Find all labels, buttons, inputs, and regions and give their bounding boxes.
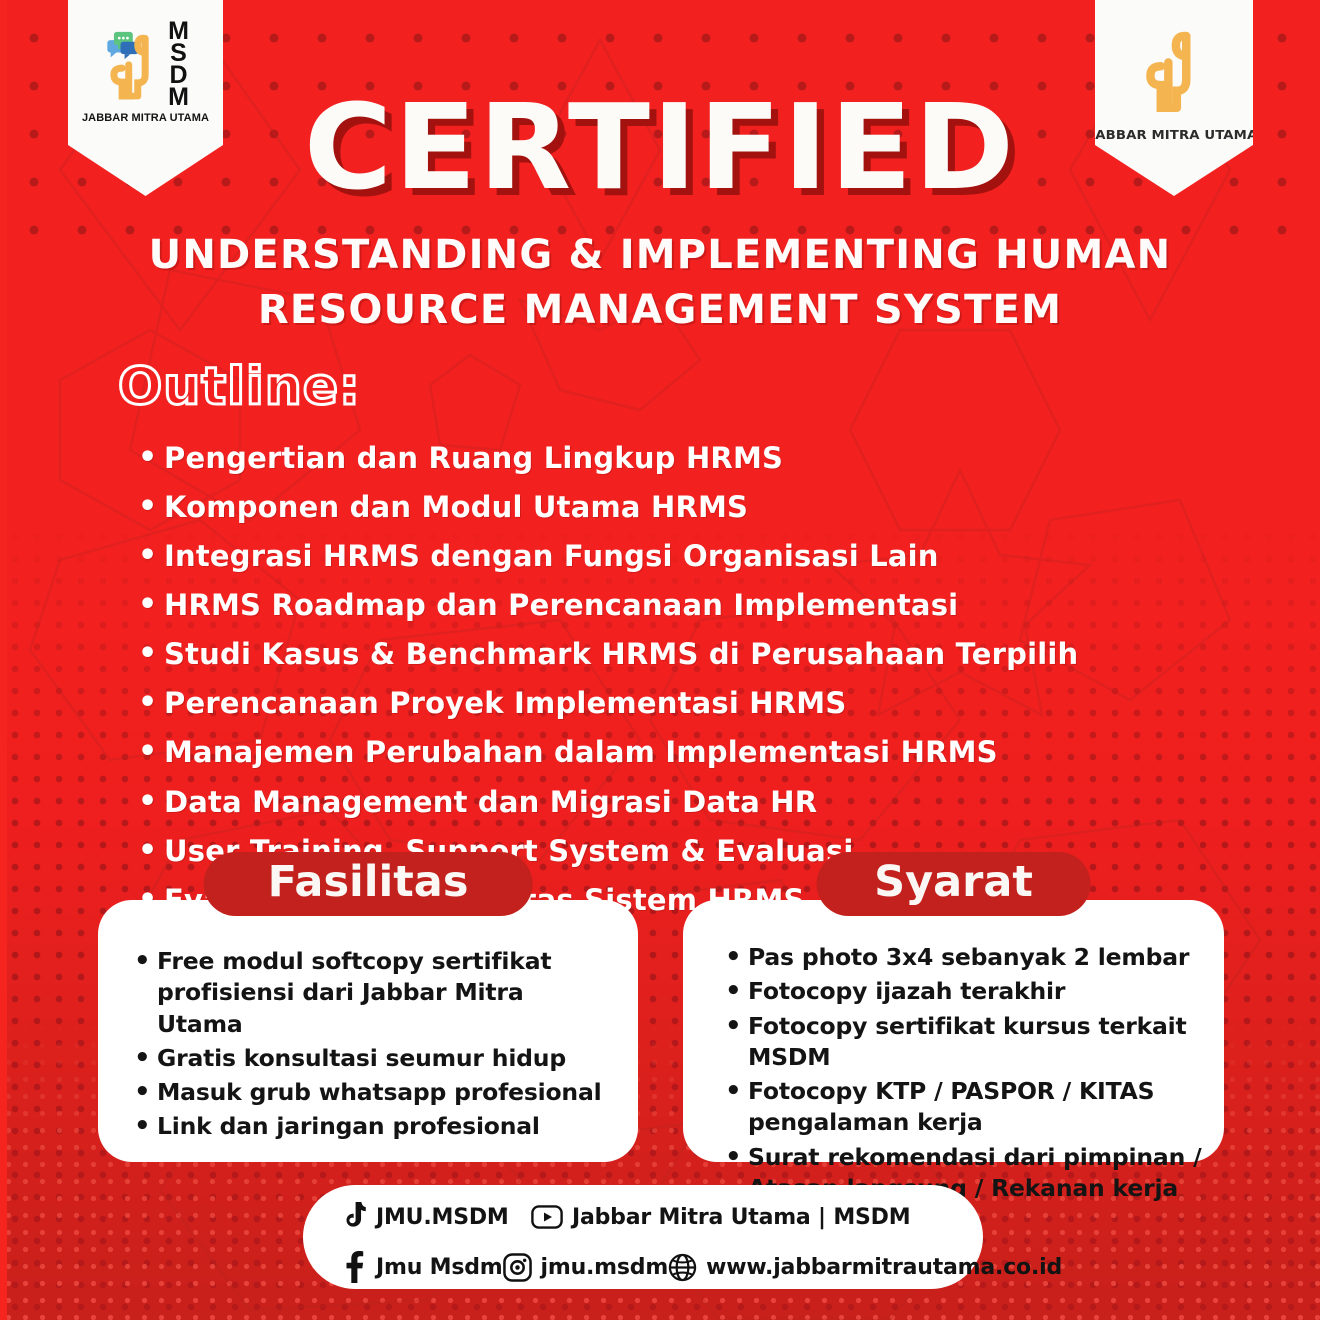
- list-item: Gratis konsultasi seumur hidup: [132, 1043, 612, 1074]
- syarat-card: Syarat Pas photo 3x4 sebanyak 2 lembar F…: [683, 900, 1224, 1162]
- outline-item: Pengertian dan Ruang Lingkup HRMS: [118, 439, 1218, 478]
- social-footer-row-2: Jmu Msdm jmu.msdm: [341, 1247, 983, 1287]
- list-item: Link dan jaringan profesional: [132, 1111, 612, 1142]
- banner-right-caption: JABBAR MITRA UTAMA: [1090, 127, 1257, 142]
- instagram-label: jmu.msdm: [541, 1255, 669, 1280]
- facebook-icon: [341, 1251, 367, 1283]
- jmu-logo-icon: [1141, 24, 1207, 118]
- outline-item: Komponen dan Modul Utama HRMS: [118, 488, 1218, 527]
- list-item: Fotocopy KTP / PASPOR / KITAS pengalaman…: [723, 1076, 1210, 1139]
- chat-bubbles-icon: [107, 32, 138, 59]
- tiktok-label: JMU.MSDM: [376, 1205, 509, 1230]
- social-youtube[interactable]: Jabbar Mitra Utama | MSDM: [531, 1205, 910, 1230]
- outline-item: Data Management dan Migrasi Data HR: [118, 783, 1218, 822]
- list-item: Fotocopy sertifikat kursus terkait MSDM: [723, 1011, 1210, 1074]
- outline-section: Outline: Pengertian dan Ruang Lingkup HR…: [118, 360, 1218, 930]
- list-item: Pas photo 3x4 sebanyak 2 lembar: [723, 942, 1210, 973]
- website-label: www.jabbarmitrautama.co.id: [706, 1255, 1062, 1280]
- syarat-title-badge: Syarat: [816, 852, 1091, 916]
- tiktok-icon: [341, 1202, 367, 1232]
- msdm-letter-m2: M: [168, 86, 189, 108]
- outline-list: Pengertian dan Ruang Lingkup HRMS Kompon…: [118, 439, 1218, 920]
- facebook-label: Jmu Msdm: [376, 1255, 503, 1280]
- fasilitas-card: Fasilitas Free modul softcopy sertifikat…: [98, 900, 638, 1162]
- social-instagram[interactable]: jmu.msdm: [503, 1253, 669, 1282]
- list-item: Free modul softcopy sertifikat profisien…: [132, 946, 612, 1040]
- msdm-logo-icon: [102, 27, 162, 101]
- social-facebook[interactable]: Jmu Msdm: [341, 1251, 503, 1283]
- outline-item: Manajemen Perubahan dalam Implementasi H…: [118, 733, 1218, 772]
- fasilitas-title-badge: Fasilitas: [204, 852, 533, 916]
- list-item: Fotocopy ijazah terakhir: [723, 976, 1210, 1007]
- msdm-letters: M S D M: [168, 20, 189, 108]
- youtube-label: Jabbar Mitra Utama | MSDM: [572, 1205, 910, 1230]
- outline-item: Studi Kasus & Benchmark HRMS di Perusaha…: [118, 635, 1218, 674]
- youtube-icon: [531, 1205, 563, 1229]
- banner-left-caption: JABBAR MITRA UTAMA: [82, 112, 209, 124]
- instagram-icon: [503, 1253, 532, 1282]
- outline-item: Perencanaan Proyek Implementasi HRMS: [118, 684, 1218, 723]
- outline-item: HRMS Roadmap dan Perencanaan Implementas…: [118, 586, 1218, 625]
- list-item: Masuk grub whatsapp profesional: [132, 1077, 612, 1108]
- social-footer-row-1: JMU.MSDM Jabbar Mitra Utama | MSDM: [341, 1197, 983, 1237]
- fasilitas-list: Free modul softcopy sertifikat profisien…: [98, 900, 638, 1143]
- page-subtitle: UNDERSTANDING & IMPLEMENTING HUMAN RESOU…: [0, 228, 1320, 338]
- social-footer: JMU.MSDM Jabbar Mitra Utama | MSDM Jmu M…: [303, 1185, 983, 1289]
- syarat-list: Pas photo 3x4 sebanyak 2 lembar Fotocopy…: [683, 900, 1224, 1204]
- msdm-logo-row: M S D M: [102, 20, 189, 108]
- globe-icon: [668, 1253, 697, 1282]
- social-website[interactable]: www.jabbarmitrautama.co.id: [668, 1253, 1062, 1282]
- social-tiktok[interactable]: JMU.MSDM: [341, 1202, 531, 1232]
- outline-heading: Outline:: [118, 360, 1218, 415]
- outline-item: Integrasi HRMS dengan Fungsi Organisasi …: [118, 537, 1218, 576]
